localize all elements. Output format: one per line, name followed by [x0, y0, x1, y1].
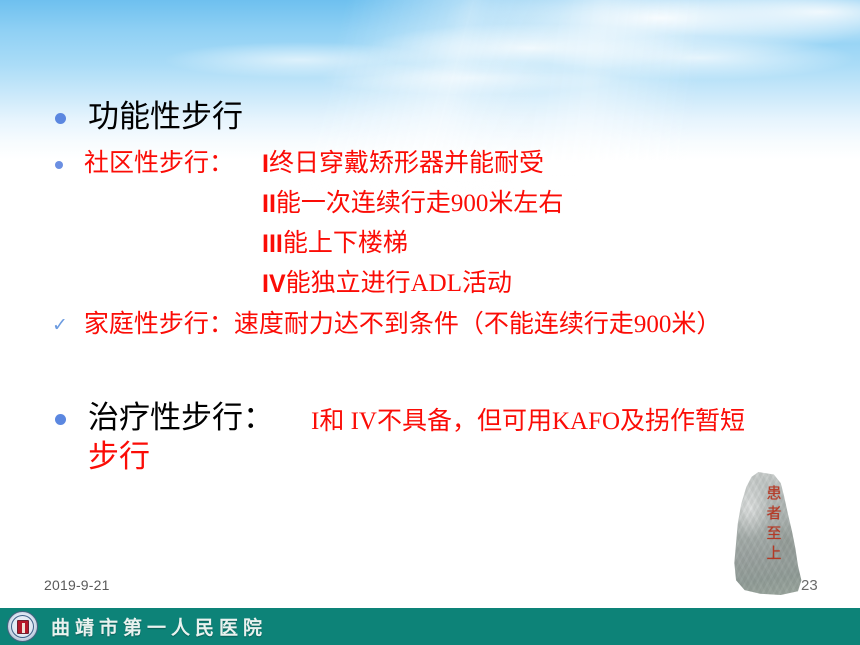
community-item-2-numeral: II [262, 190, 276, 218]
community-walking-label: 社区性步行： [84, 150, 234, 178]
bullet-functional-walking: 功能性步行 [55, 100, 243, 135]
slide-date: 2019-9-21 [44, 577, 110, 593]
community-item-2-text: 能一次连续行走900米左右 [276, 190, 564, 218]
community-item-3: III 能上下楼梯 [262, 230, 408, 258]
therapeutic-detail-line-1: I和 IV不具备，但可用KAFO及拐作暂短 [311, 408, 745, 436]
community-item-2: II 能一次连续行走900米左右 [262, 190, 563, 218]
therapeutic-detail-line-2: 步行 [88, 440, 150, 475]
therapeutic-detail-text-2: 步行 [88, 440, 150, 475]
footer-bar: 曲靖市第一人民医院 [0, 608, 860, 645]
disc-bullet-icon [55, 113, 66, 124]
disc-bullet-icon [55, 414, 66, 425]
slide-page-number: 23 [801, 577, 818, 594]
community-item-4-text: 能独立进行ADL活动 [286, 270, 512, 298]
therapeutic-walking-label: 治疗性步行： [88, 401, 274, 436]
community-item-4-numeral: IV [262, 270, 286, 298]
bullet-household-walking: ✓ 家庭性步行：速度耐力达不到条件（不能连续行走900米） [52, 311, 721, 339]
hospital-name-label: 曲靖市第一人民医院 [51, 613, 267, 640]
community-item-3-text: 能上下楼梯 [283, 230, 408, 258]
functional-walking-label: 功能性步行 [88, 100, 243, 135]
community-item-1-numeral: I [262, 150, 269, 178]
household-walking-text: 家庭性步行：速度耐力达不到条件（不能连续行走900米） [84, 311, 722, 339]
bullet-community-walking: 社区性步行： [55, 150, 234, 178]
community-item-1-text: 终日穿戴矫形器并能耐受 [269, 150, 544, 178]
community-item-1: I 终日穿戴矫形器并能耐受 [262, 150, 544, 178]
community-item-4: IV 能独立进行ADL活动 [262, 270, 512, 298]
slide-content: 功能性步行 社区性步行： I 终日穿戴矫形器并能耐受 II 能一次连续行走900… [0, 0, 860, 600]
check-bullet-icon: ✓ [52, 316, 68, 335]
therapeutic-detail-text-1: I和 IV不具备，但可用KAFO及拐作暂短 [311, 408, 745, 436]
emblem-shield-icon [17, 620, 29, 634]
bullet-therapeutic-walking: 治疗性步行： [55, 401, 274, 436]
hospital-emblem-icon [7, 611, 38, 642]
community-item-3-numeral: III [262, 230, 283, 258]
presentation-slide: 功能性步行 社区性步行： I 终日穿戴矫形器并能耐受 II 能一次连续行走900… [0, 0, 860, 645]
disc-bullet-icon [55, 161, 63, 169]
